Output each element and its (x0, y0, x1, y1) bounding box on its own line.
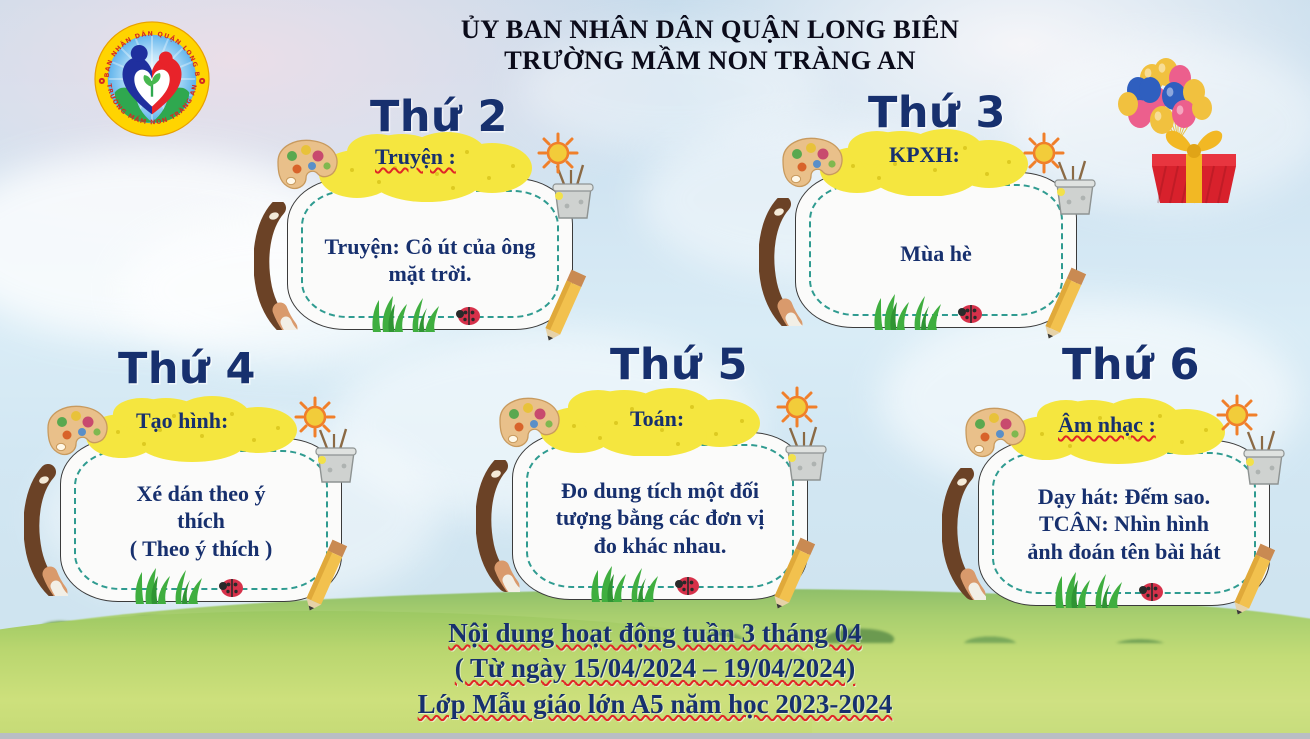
header-line-1: ỦY BAN NHÂN DÂN QUẬN LONG BIÊN (330, 14, 1090, 45)
card-line: tượng bằng các đơn vị (556, 504, 765, 531)
school-logo: ỦY BAN NHÂN DÂN QUẬN LONG BIÊN TRƯỜNG MẦ… (93, 20, 211, 138)
day-card-thu-6[interactable]: Âm nhạc : (978, 440, 1270, 606)
footer-line-1: Nội dung hoạt động tuần 3 tháng 04 (255, 616, 1055, 651)
footer-line-2: ( Từ ngày 15/04/2024 – 19/04/2024) (255, 651, 1055, 686)
day-card-thu-2[interactable]: Truyện : (287, 178, 573, 330)
day-title-thu-4: Thứ 4 (118, 344, 256, 394)
sun-icon (774, 384, 820, 435)
card-line: Xé dán theo ý (137, 480, 266, 507)
card-content-thu-3: Mùa hè (821, 176, 1051, 310)
card-line: Truyện: Cô út của ông (324, 233, 535, 260)
day-card-thu-5[interactable]: Toán: (512, 432, 808, 600)
card-line: Đo dung tích một đối (561, 477, 759, 504)
card-line: mặt trời. (388, 260, 471, 287)
card-content-thu-4: Xé dán theo ý thích ( Theo ý thích ) (86, 442, 316, 584)
card-line: thích (177, 507, 225, 534)
card-subject-thu-4: Tạo hình: (136, 408, 228, 434)
day-card-thu-4[interactable]: Tạo hình: (60, 438, 342, 602)
paintbrush-icon (942, 468, 986, 605)
paintbrush-icon (254, 202, 298, 335)
card-content-thu-5: Đo dung tích một đối tượng bằng các đơn … (538, 436, 782, 582)
paintbrush-icon (476, 460, 520, 597)
sun-icon (1021, 130, 1067, 181)
sun-icon (1214, 392, 1260, 443)
header-line-2: TRƯỜNG MẦM NON TRÀNG AN (330, 45, 1090, 76)
card-line: ảnh đoán tên bài hát (1027, 538, 1220, 565)
card-line: Mùa hè (900, 240, 972, 267)
page-title: ỦY BAN NHÂN DÂN QUẬN LONG BIÊN TRƯỜNG MẦ… (330, 14, 1090, 76)
card-subject-thu-3: KPXH: (889, 142, 960, 168)
card-line: đo khác nhau. (594, 532, 727, 559)
gift-box-with-balloons-icon (1108, 48, 1308, 208)
day-title-thu-5: Thứ 5 (610, 340, 748, 390)
card-line: Dạy hát: Đếm sao. (1038, 483, 1210, 510)
card-subject-thu-6: Âm nhạc : (1058, 412, 1156, 438)
card-subject-thu-5: Toán: (630, 406, 684, 432)
day-title-thu-6: Thứ 6 (1062, 340, 1200, 390)
card-content-thu-2: Truyện: Cô út của ông mặt trời. (313, 182, 547, 312)
card-line: ( Theo ý thích ) (130, 535, 273, 562)
card-content-thu-6: Dạy hát: Đếm sao. TCÂN: Nhìn hình ảnh đo… (1004, 444, 1244, 588)
card-subject-thu-2: Truyện : (375, 144, 456, 170)
footer-line-3: Lớp Mẫu giáo lớn A5 năm học 2023-2024 (255, 687, 1055, 722)
sun-icon (535, 130, 581, 181)
card-line: TCÂN: Nhìn hình (1039, 510, 1209, 537)
sun-icon (292, 394, 338, 445)
footer: Nội dung hoạt động tuần 3 tháng 04 ( Từ … (255, 616, 1055, 722)
bottom-strip (0, 733, 1310, 739)
day-card-thu-3[interactable]: KPXH: (795, 172, 1077, 328)
paintbrush-icon (24, 464, 68, 601)
paintbrush-icon (759, 198, 803, 331)
